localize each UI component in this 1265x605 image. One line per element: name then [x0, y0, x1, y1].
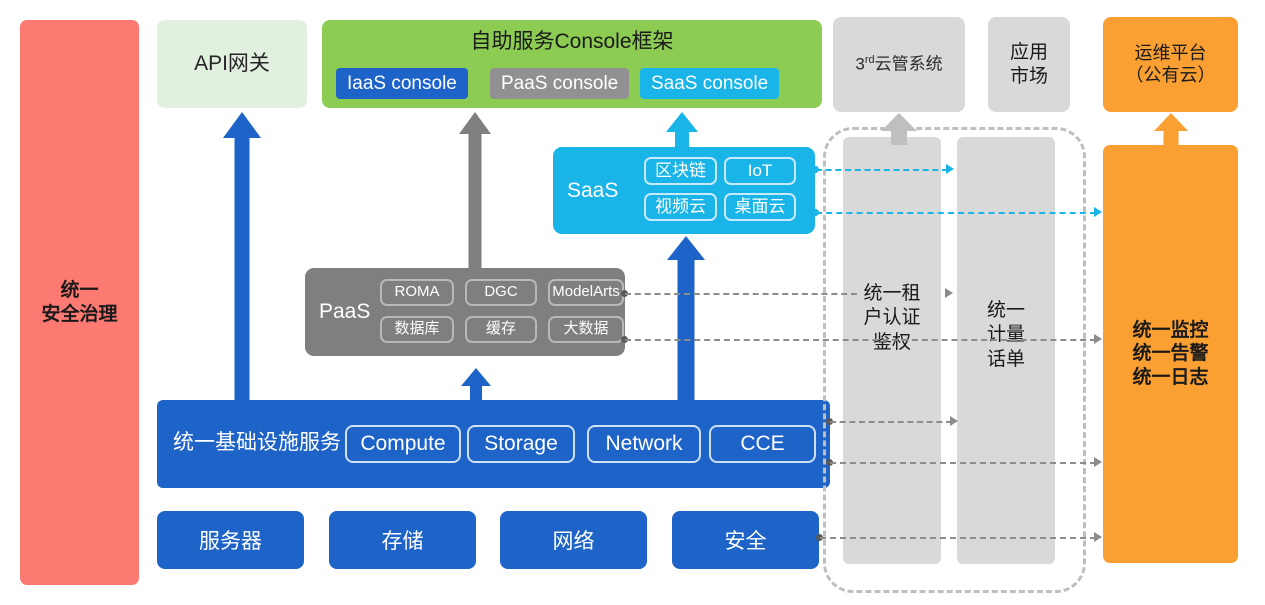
- console-framework-title: 自助服务Console框架: [322, 29, 822, 55]
- arrow-infra-to-paas: [460, 368, 492, 402]
- api-gateway-label: API网关: [194, 51, 270, 77]
- dashed-line-infra-to-auth: [830, 421, 952, 423]
- ops-body-line1: 统一监控: [1132, 319, 1208, 342]
- arrow-infra-to-api-gateway: [222, 112, 262, 402]
- auth-line3: 鉴权: [863, 331, 920, 355]
- arrow-shared-to-third-cloud: [880, 113, 918, 145]
- dashed-line-hardware-to-ops: [820, 537, 1096, 539]
- arrow-paas-to-console: [458, 112, 492, 270]
- saas-service-tag[interactable]: 桌面云: [724, 193, 796, 221]
- infra-tag-label: Compute: [360, 431, 445, 457]
- architecture-diagram-canvas: 统一 安全治理 API网关 自助服务Console框架 IaaS console…: [0, 0, 1265, 605]
- hardware-box-security: 安全: [672, 511, 819, 569]
- paas-service-tag[interactable]: 大数据: [548, 316, 624, 343]
- paas-service-tag[interactable]: 缓存: [465, 316, 537, 343]
- security-governance-panel: 统一 安全治理: [20, 20, 139, 585]
- infra-service-tag[interactable]: Compute: [345, 425, 461, 463]
- auth-line1: 统一租: [863, 282, 920, 306]
- iaas-console-chip[interactable]: IaaS console: [336, 68, 468, 99]
- paas-console-label: PaaS console: [501, 72, 618, 95]
- saas-service-tag[interactable]: 视频云: [644, 193, 717, 221]
- security-panel-line1: 统一: [41, 279, 117, 302]
- meter-line2: 计量: [987, 323, 1025, 347]
- paas-tag-label: ROMA: [395, 283, 440, 301]
- meter-line1: 统一: [987, 299, 1025, 323]
- dashed-line-infra-to-ops: [830, 462, 1096, 464]
- arrowhead-paas-to-auth: [945, 288, 953, 298]
- shared-metering-column: 统一 计量 话单: [957, 137, 1055, 564]
- paas-service-tag[interactable]: 数据库: [380, 316, 454, 343]
- iaas-console-label: IaaS console: [347, 72, 457, 95]
- hardware-label: 安全: [725, 525, 767, 555]
- paas-layer-box: PaaS ROMA DGC ModelArts 数据库 缓存 大数据: [305, 268, 625, 356]
- saas-tag-label: 桌面云: [735, 197, 786, 218]
- hardware-label: 存储: [382, 525, 424, 555]
- shared-auth-column: 统一租 户认证 鉴权: [843, 137, 941, 564]
- infrastructure-layer-box: 统一基础设施服务 Compute Storage Network CCE: [157, 400, 830, 488]
- paas-console-chip[interactable]: PaaS console: [490, 68, 629, 99]
- ops-platform-line2: （公有云）: [1126, 65, 1216, 87]
- saas-tag-label: IoT: [748, 161, 773, 182]
- infra-service-tag[interactable]: CCE: [709, 425, 816, 463]
- hardware-box-storage: 存储: [329, 511, 476, 569]
- saas-tag-label: 视频云: [655, 197, 706, 218]
- paas-tag-label: ModelArts: [552, 283, 620, 301]
- hardware-label: 服务器: [199, 525, 262, 555]
- hardware-label: 网络: [553, 525, 595, 555]
- auth-line2: 户认证: [863, 306, 920, 330]
- app-market-box: 应用 市场: [988, 17, 1070, 112]
- third-cloud-prefix: 3: [855, 54, 864, 73]
- infra-tag-label: CCE: [740, 431, 784, 457]
- infra-tag-label: Storage: [484, 431, 558, 457]
- ops-body-line2: 统一告警: [1132, 342, 1208, 365]
- infra-tag-label: Network: [605, 431, 682, 457]
- saas-service-tag[interactable]: IoT: [724, 157, 796, 185]
- infra-service-tag[interactable]: Storage: [467, 425, 575, 463]
- dashed-line-paas-to-auth: [625, 293, 857, 295]
- paas-service-tag[interactable]: DGC: [465, 279, 537, 306]
- infra-service-tag[interactable]: Network: [587, 425, 701, 463]
- security-panel-line2: 安全治理: [41, 303, 117, 326]
- paas-tag-label: 缓存: [486, 320, 516, 338]
- saas-console-label: SaaS console: [651, 72, 768, 95]
- third-cloud-superscript: rd: [865, 54, 875, 66]
- paas-layer-label: PaaS: [319, 299, 370, 325]
- saas-console-chip[interactable]: SaaS console: [640, 68, 779, 99]
- third-party-cloud-mgmt-box: 3rd云管系统: [833, 17, 965, 112]
- app-market-line1: 应用: [1010, 41, 1048, 64]
- saas-service-tag[interactable]: 区块链: [644, 157, 717, 185]
- arrowhead-infra-to-ops: [1094, 457, 1102, 467]
- ops-body-line3: 统一日志: [1132, 366, 1208, 389]
- paas-tag-label: DGC: [484, 283, 517, 301]
- arrowhead-hardware-to-ops: [1094, 532, 1102, 542]
- ops-platform-line1: 运维平台: [1126, 43, 1216, 65]
- app-market-line2: 市场: [1010, 65, 1048, 88]
- arrowhead-saas-to-metering: [946, 164, 954, 174]
- api-gateway-box: API网关: [157, 20, 307, 108]
- saas-tag-label: 区块链: [655, 161, 706, 182]
- arrowhead-saas-to-ops: [1094, 207, 1102, 217]
- dashed-line-saas-to-metering: [816, 169, 948, 171]
- dashed-line-paas-to-ops: [625, 339, 1096, 341]
- paas-tag-label: 大数据: [563, 320, 608, 338]
- arrow-ops-body-to-ops-header: [1153, 113, 1189, 146]
- console-framework-box: 自助服务Console框架 IaaS console PaaS console …: [322, 20, 822, 108]
- third-cloud-rest: 云管系统: [875, 54, 943, 73]
- dashed-line-saas-to-ops: [816, 212, 1096, 214]
- arrow-saas-to-saas-console: [665, 112, 699, 150]
- paas-service-tag[interactable]: ROMA: [380, 279, 454, 306]
- ops-platform-body-box: 统一监控 统一告警 统一日志: [1103, 145, 1238, 563]
- paas-service-tag[interactable]: ModelArts: [548, 279, 624, 306]
- meter-line3: 话单: [987, 348, 1025, 372]
- infrastructure-label: 统一基础设施服务: [173, 430, 341, 456]
- paas-tag-label: 数据库: [394, 320, 439, 338]
- hardware-box-server: 服务器: [157, 511, 304, 569]
- saas-layer-box: SaaS 区块链 IoT 视频云 桌面云: [553, 147, 815, 234]
- arrowhead-infra-to-auth: [950, 416, 958, 426]
- ops-platform-header-box: 运维平台 （公有云）: [1103, 17, 1238, 112]
- arrow-infra-to-saas: [666, 236, 706, 402]
- arrowhead-paas-to-ops: [1094, 334, 1102, 344]
- hardware-box-network: 网络: [500, 511, 647, 569]
- saas-layer-label: SaaS: [567, 178, 618, 204]
